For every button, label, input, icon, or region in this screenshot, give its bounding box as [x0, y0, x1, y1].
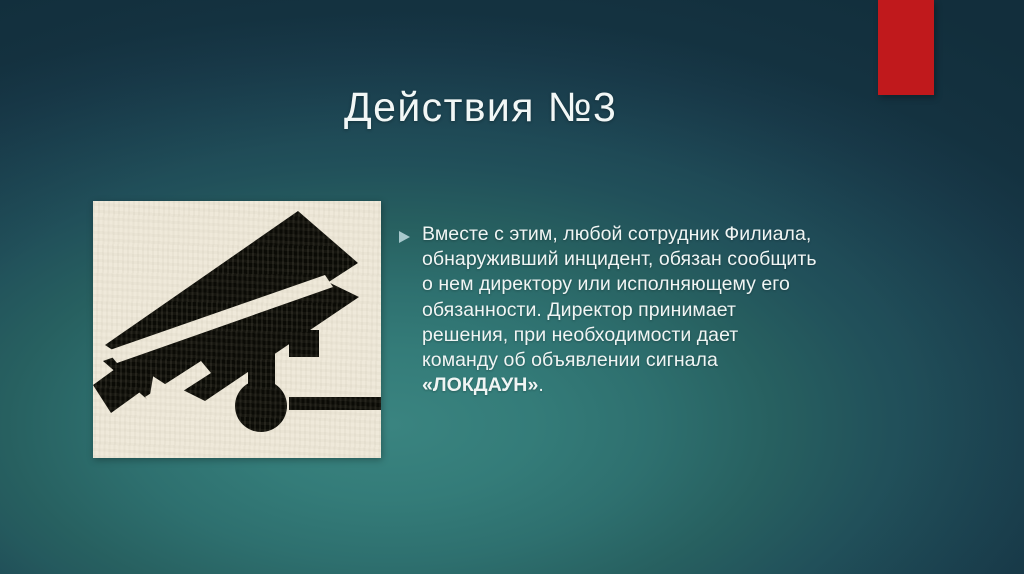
security-camera-image	[93, 201, 381, 458]
presentation-slide: Действия №3	[0, 0, 1024, 574]
bullet-triangle-icon	[399, 231, 410, 243]
slide-title: Действия №3	[344, 82, 944, 132]
bullet-list: Вместе с этим, любой сотрудник Филиала, …	[399, 222, 819, 398]
bullet-item-text: Вместе с этим, любой сотрудник Филиала, …	[422, 222, 819, 398]
security-camera-icon	[93, 201, 381, 458]
red-accent-rectangle	[878, 0, 934, 95]
